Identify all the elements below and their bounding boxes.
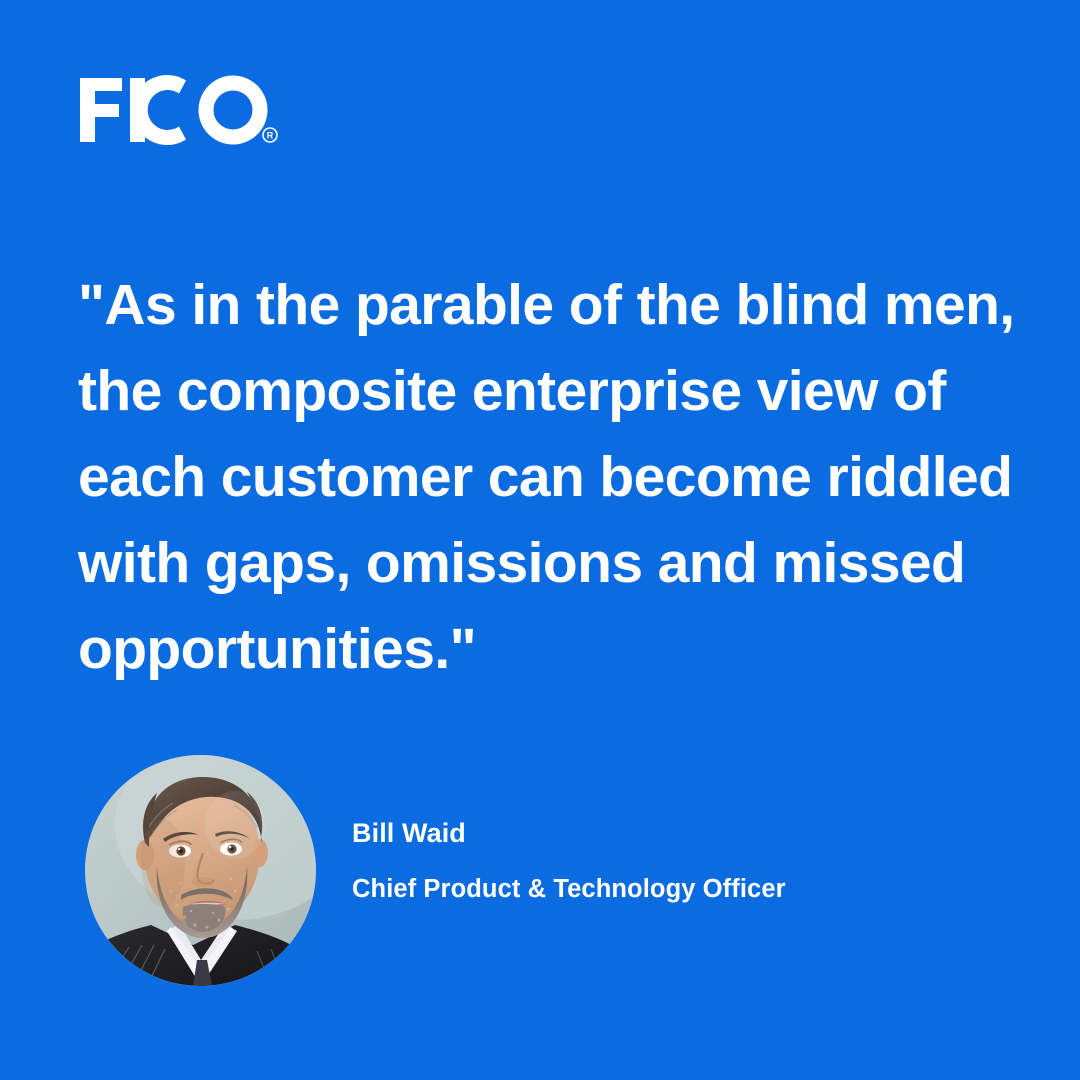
svg-text:R: R (267, 131, 274, 141)
quote-line: with gaps, omissions and missed (78, 520, 1018, 606)
attribution-text: Bill Waid Chief Product & Technology Off… (352, 755, 972, 986)
avatar (85, 755, 316, 986)
quote-line: the composite enterprise view of (78, 348, 1018, 434)
quote-line: opportunities." (78, 606, 1018, 692)
person-title: Chief Product & Technology Officer (352, 875, 786, 904)
quote-card: R FICO "As in the parable of the blind m… (0, 0, 1080, 1080)
fico-logo: R FICO (78, 74, 278, 146)
quote-line: each customer can become riddled (78, 434, 1018, 520)
person-name: Bill Waid (352, 818, 466, 849)
quote-line: "As in the parable of the blind men, (78, 262, 1018, 348)
attribution: Bill Waid Chief Product & Technology Off… (85, 755, 985, 990)
quote-text: "As in the parable of the blind men, the… (78, 262, 1018, 692)
